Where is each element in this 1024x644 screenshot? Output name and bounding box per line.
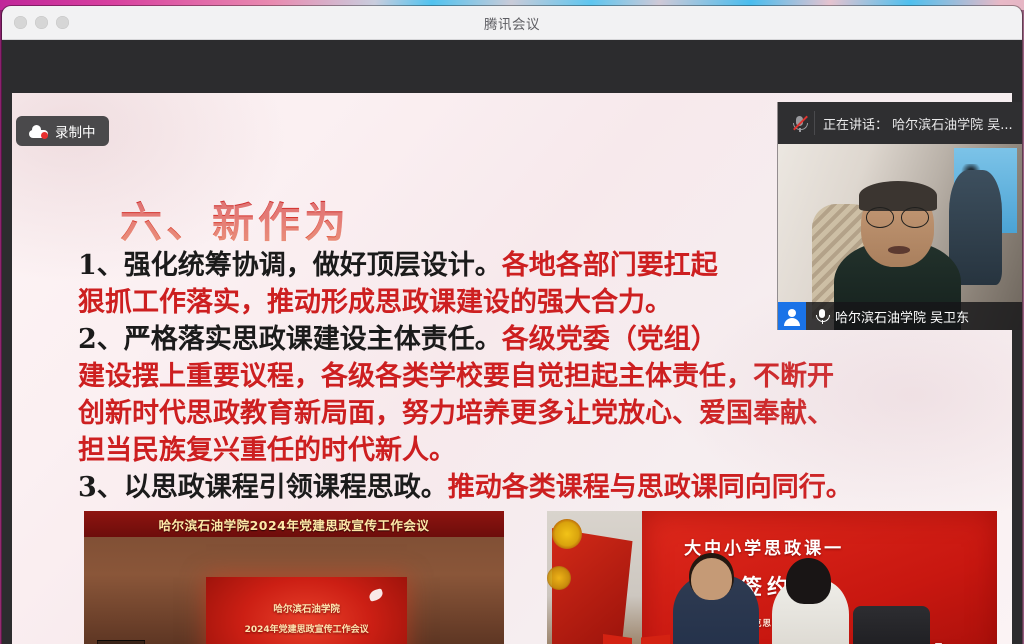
slide-line-6: 担当民族复兴重任的时代新人。 xyxy=(78,432,968,469)
slide-line-1-dark: 1、强化统筹协调，做好顶层设计。 xyxy=(78,250,502,281)
glasses-icon xyxy=(866,207,929,226)
cloud-record-icon xyxy=(29,125,48,138)
zoom-button[interactable] xyxy=(56,16,69,29)
avatar xyxy=(778,302,806,330)
slide-line-7-red: 推动各类课程与思政课同向同行。 xyxy=(448,472,853,503)
slide-line-3-red: 各级党委（党组） xyxy=(502,324,718,355)
meeting-stage: 六、新作为 1、强化统筹协调，做好顶层设计。各地各部门要扛起 狠抓工作落实，推动… xyxy=(2,40,1022,644)
close-button[interactable] xyxy=(14,16,27,29)
led-screen-line-1: 哈尔滨石油学院 xyxy=(206,601,408,615)
party-emblem-secondary-icon xyxy=(547,566,571,590)
slide-line-6-red: 担当民族复兴重任的时代新人。 xyxy=(78,435,456,466)
speaking-status-label: 正在讲话： 哈尔滨石油学院 吴... xyxy=(823,114,1013,133)
desk-mini-flags xyxy=(601,615,678,644)
signing-banner-line-1: 大中小学思政课一 xyxy=(684,534,844,559)
minimize-button[interactable] xyxy=(35,16,48,29)
led-screen-line-2: 2024年党建思政宣传工作会议 xyxy=(206,622,408,635)
slide-photo-signing: 大中小学思政课一 签约仪 哈尔滨石油学院马克思主义学院 2023年11月15日 xyxy=(547,511,997,644)
slide-line-5: 创新时代思政教育新局面，努力培养更多让党放心、爱国奉献、 xyxy=(78,395,968,432)
slide-line-4-red: 建设摆上重要议程，各级各类学校要自觉担起主体责任，不断开 xyxy=(78,361,834,392)
slide-line-5-red: 创新时代思政教育新局面，努力培养更多让党放心、爱国奉献、 xyxy=(78,398,834,429)
microphone-muted-icon xyxy=(792,115,807,132)
window-traffic-lights[interactable] xyxy=(14,16,69,29)
slide-photo-conference: 哈尔滨石油学院 2024年党建思政宣传工作会议 哈尔滨石油学院2024年党建思政… xyxy=(84,511,504,644)
slide-title: 六、新作为 xyxy=(120,189,350,250)
recording-label: 录制中 xyxy=(55,121,96,141)
speaker-video-overlay[interactable]: 正在讲话： 哈尔滨石油学院 吴... xyxy=(778,102,1022,330)
slide-line-7-dark: 3、以思政课程引领课程思政。 xyxy=(78,472,448,503)
speaking-status-bar: 正在讲话： 哈尔滨石油学院 吴... xyxy=(778,102,1022,144)
microphone-icon xyxy=(815,308,829,324)
conference-banner-text: 哈尔滨石油学院2024年党建思政宣传工作会议 xyxy=(84,511,504,537)
office-chair xyxy=(853,606,930,644)
participant-name-label: 哈尔滨石油学院 吴卫东 xyxy=(835,307,969,326)
header-divider xyxy=(814,111,815,135)
app-window: 腾讯会议 六、新作为 1、强化统筹协调，做好顶层设计。各地各部门要扛起 狠抓工作… xyxy=(2,6,1022,644)
slide-line-4: 建设摆上重要议程，各级各类学校要自觉担起主体责任，不断开 xyxy=(78,358,968,395)
screen: 腾讯会议 六、新作为 1、强化统筹协调，做好顶层设计。各地各部门要扛起 狠抓工作… xyxy=(0,0,1024,644)
signatory-male-head xyxy=(691,558,732,600)
video-person-mouth xyxy=(888,246,910,253)
party-emblem-icon xyxy=(552,519,582,549)
dove-icon xyxy=(368,588,384,602)
slide-line-3-dark: 2、严格落实思政课建设主体责任。 xyxy=(78,324,502,355)
participant-name-bar: 哈尔滨石油学院 吴卫东 xyxy=(778,302,1022,330)
slide-line-1-red: 各地各部门要扛起 xyxy=(502,250,718,281)
signatory-female-head xyxy=(786,558,831,605)
conference-led-screen: 哈尔滨石油学院 2024年党建思政宣传工作会议 xyxy=(206,577,408,644)
speaker-video-feed[interactable]: 哈尔滨石油学院 吴卫东 xyxy=(778,144,1022,330)
slide-line-2-red: 狠抓工作落实，推动形成思政课建设的强大合力。 xyxy=(78,287,672,318)
conference-hall-door xyxy=(97,640,145,644)
window-titlebar: 腾讯会议 xyxy=(2,6,1022,40)
slide-line-7: 3、以思政课程引领课程思政。推动各类课程与思政课同向同行。 xyxy=(78,469,968,506)
window-title: 腾讯会议 xyxy=(2,13,1022,33)
recording-badge[interactable]: 录制中 xyxy=(16,116,109,146)
